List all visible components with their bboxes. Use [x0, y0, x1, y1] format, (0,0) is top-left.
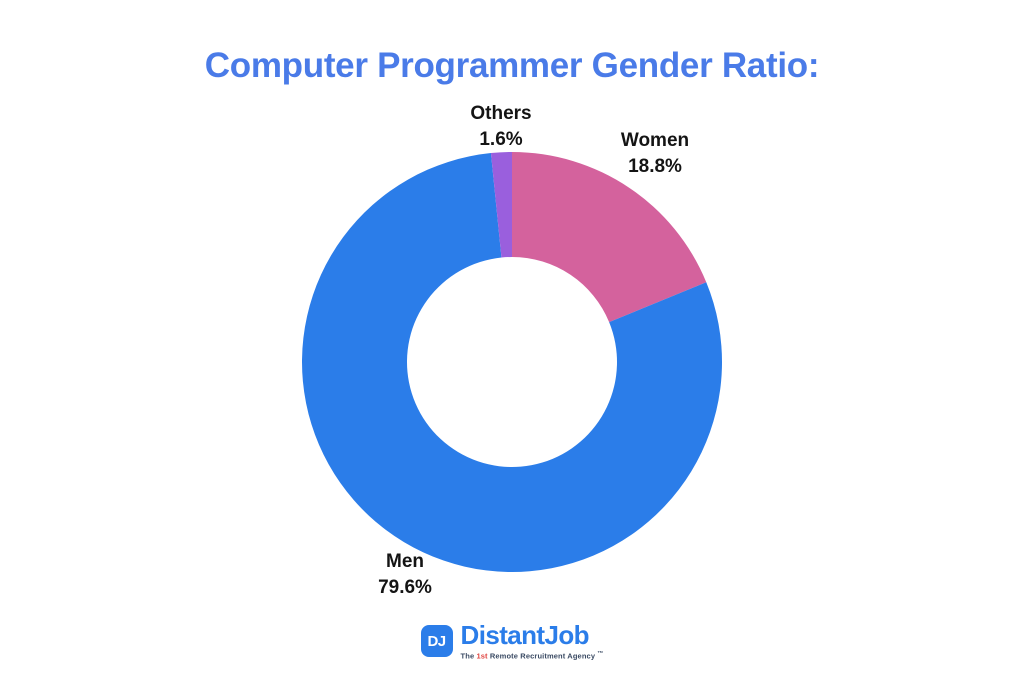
slice-label-others-name: Others — [411, 101, 591, 127]
distantjob-logo[interactable]: DJ DistantJob The 1st Remote Recruitment… — [0, 622, 1024, 660]
slice-label-men: Men 79.6% — [315, 549, 495, 601]
donut-chart-svg — [302, 152, 722, 572]
tagline-rest: Remote Recruitment Agency — [488, 652, 598, 661]
brand-wordmark: DistantJob — [461, 622, 589, 648]
slice-label-women-name: Women — [560, 128, 750, 154]
slice-label-men-name: Men — [315, 549, 495, 575]
brand-text: DistantJob The 1st Remote Recruitment Ag… — [461, 622, 604, 660]
donut-slices — [302, 152, 722, 572]
chart-canvas: Computer Programmer Gender Ratio: Others… — [0, 0, 1024, 688]
slice-label-men-value: 79.6% — [315, 575, 495, 601]
donut-chart — [302, 152, 722, 572]
tagline-first: 1st — [476, 652, 487, 661]
tagline-trademark-icon: ™ — [597, 651, 603, 657]
dj-badge-icon: DJ — [421, 625, 453, 657]
tagline-prefix: The — [461, 652, 477, 661]
page-title: Computer Programmer Gender Ratio: — [0, 46, 1024, 86]
brand-tagline: The 1st Remote Recruitment Agency ™ — [461, 651, 604, 660]
slice-label-women-value: 18.8% — [560, 154, 750, 180]
slice-label-women: Women 18.8% — [560, 128, 750, 180]
